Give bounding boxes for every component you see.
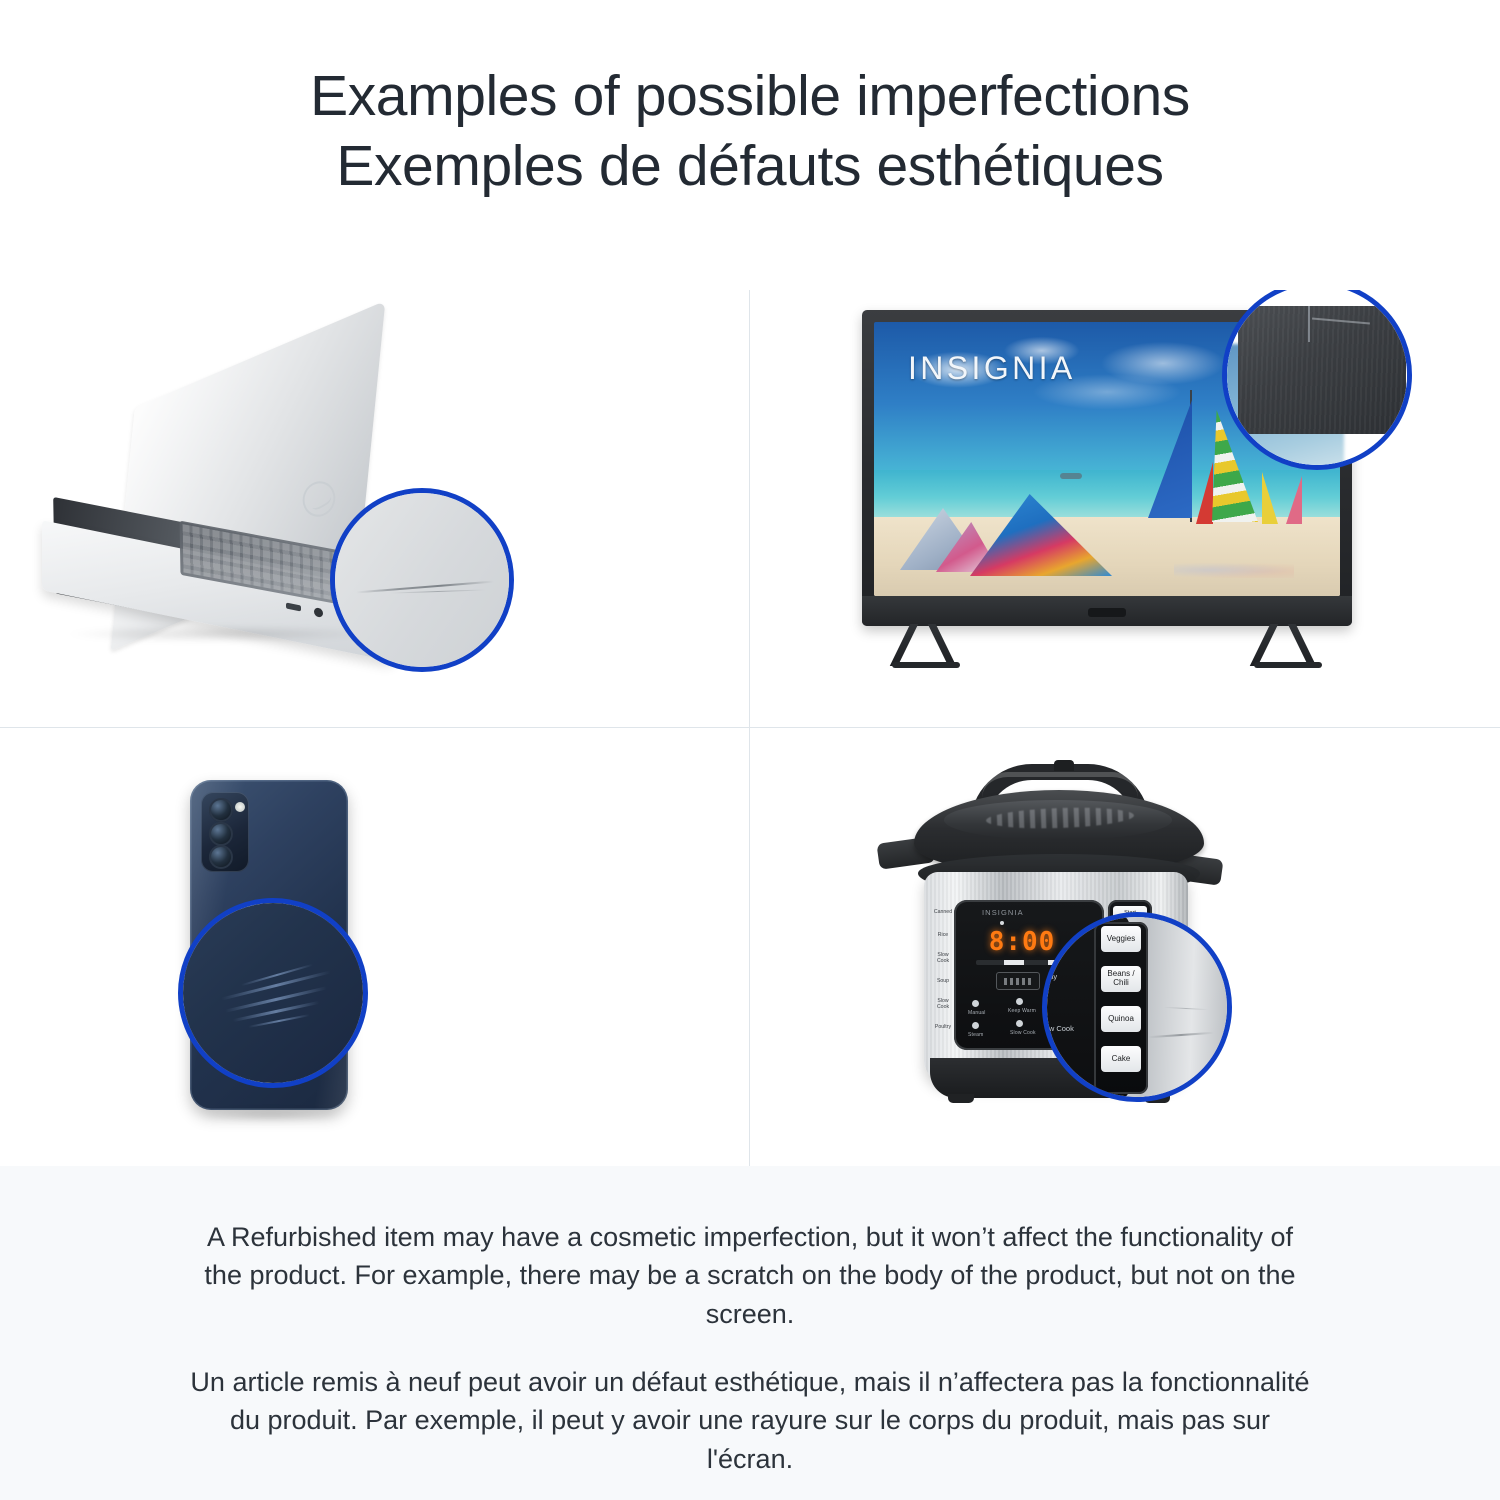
cooker-scratch-mark-secondary [1164, 1007, 1208, 1010]
cooker-key-1[interactable] [1016, 998, 1023, 1005]
page-title-french: Exemples de défauts esthétiques [336, 132, 1163, 202]
cooker-key-0[interactable] [972, 1000, 979, 1007]
magnifier-laptop-scratch [330, 488, 514, 672]
cooker-mode-readout[interactable] [996, 972, 1040, 990]
cooker-left-button-1[interactable]: Rice [932, 929, 954, 942]
phone-shadow [198, 1108, 344, 1122]
cell-television: INSIGNIA [750, 290, 1500, 728]
tv-foot-left [892, 662, 960, 668]
tv-leg-left-outer [890, 624, 918, 666]
camera-lens-icon-3 [209, 845, 233, 869]
tv-leg-left-inner [928, 624, 956, 666]
footer-paragraph-english: A Refurbished item may have a cosmetic i… [185, 1218, 1315, 1333]
cooker-left-button-4[interactable]: Slow Cook [932, 998, 954, 1011]
page-title: Examples of possible imperfections Exemp… [0, 0, 1500, 290]
cooker-zoom-button-3[interactable]: Cake [1101, 1046, 1141, 1072]
cooker-keypad-label-1: Keep Warm [1008, 1008, 1036, 1014]
tv-leg-right-inner [1288, 624, 1316, 666]
cooker-key-4[interactable] [1016, 1020, 1023, 1027]
cooker-scratch-mark [1148, 1032, 1214, 1038]
cooker-left-button-5[interactable]: Poultry [932, 1021, 954, 1034]
tv-brand-label: INSIGNIA [908, 350, 1076, 387]
cooker-zoom-button-1[interactable]: Beans / Chili [1101, 966, 1141, 992]
cooker-foot-left [948, 1094, 974, 1103]
tv-screen-distant-boat [1060, 473, 1082, 479]
cooker-zoom-button-0[interactable]: Veggies [1101, 926, 1141, 952]
cell-smartphone [0, 728, 750, 1166]
footer-paragraph-french: Un article remis à neuf peut avoir un dé… [185, 1363, 1315, 1478]
television-illustration: INSIGNIA [750, 290, 1500, 727]
cooker-status-led-icon [1000, 921, 1004, 925]
page-title-english: Examples of possible imperfections [310, 62, 1190, 132]
cooker-keypad-label-0: Manual [968, 1010, 986, 1016]
phone-camera-module [201, 792, 249, 872]
cooker-left-button-2[interactable]: Slow Cook [932, 952, 954, 965]
cell-pressure-cooker: Canned Rice Slow Cook Soup Slow Cook Pou… [750, 728, 1500, 1166]
tv-zoom-bezel-corner [1238, 306, 1406, 434]
laptop-illustration [0, 290, 749, 727]
product-examples-grid: INSIGNIA [0, 290, 1500, 1166]
cooker-steam-valve-icon [1054, 760, 1074, 771]
laptop-scratch-mark-secondary [390, 589, 486, 594]
cooker-zoom-left-label-1: Slow Cook [1042, 1024, 1074, 1033]
cooker-left-button-column[interactable]: Canned Rice Slow Cook Soup Slow Cook Pou… [932, 906, 956, 1044]
pressure-cooker-illustration: Canned Rice Slow Cook Soup Slow Cook Pou… [750, 728, 1500, 1166]
phone-scratch-mark-2 [225, 986, 327, 1012]
camera-lens-icon-1 [209, 798, 233, 822]
tv-zoom-bezel-seam [1308, 306, 1310, 342]
magnifier-tv-bezel [1222, 290, 1412, 470]
tv-foot-right [1254, 662, 1322, 668]
cooker-keypad-label-3: Steam [968, 1032, 983, 1038]
laptop-shadow [68, 626, 368, 642]
tv-screen-beach-gear [1174, 562, 1294, 578]
cooker-key-3[interactable] [972, 1022, 979, 1029]
smartphone-illustration [0, 728, 749, 1166]
tv-leg-right-outer [1250, 624, 1278, 666]
camera-lens-icon-2 [209, 822, 233, 846]
cooker-zoom-button-2[interactable]: Quinoa [1101, 1006, 1141, 1032]
cooker-zoom-button-column: Veggies Beans / Chili Quinoa Cake [1094, 922, 1148, 1094]
magnifier-phone-scratches [178, 898, 368, 1088]
cell-laptop [0, 290, 750, 728]
camera-flash-icon [235, 802, 245, 812]
footer-description: A Refurbished item may have a cosmetic i… [0, 1166, 1500, 1500]
cooker-left-button-0[interactable]: Canned [932, 906, 954, 919]
cooker-keypad-label-4: Slow Cook [1010, 1030, 1036, 1036]
refurbished-imperfections-infographic: Examples of possible imperfections Exemp… [0, 0, 1500, 1500]
tv-bottom-bezel [862, 596, 1352, 626]
cooker-brand-label: INSIGNIA [982, 908, 1024, 917]
magnifier-cooker-scratch: Delay Slow Cook Veggies Beans / Chili Qu… [1042, 912, 1232, 1102]
cooker-left-button-3[interactable]: Soup [932, 975, 954, 988]
tv-ir-sensor-icon [1088, 608, 1126, 617]
